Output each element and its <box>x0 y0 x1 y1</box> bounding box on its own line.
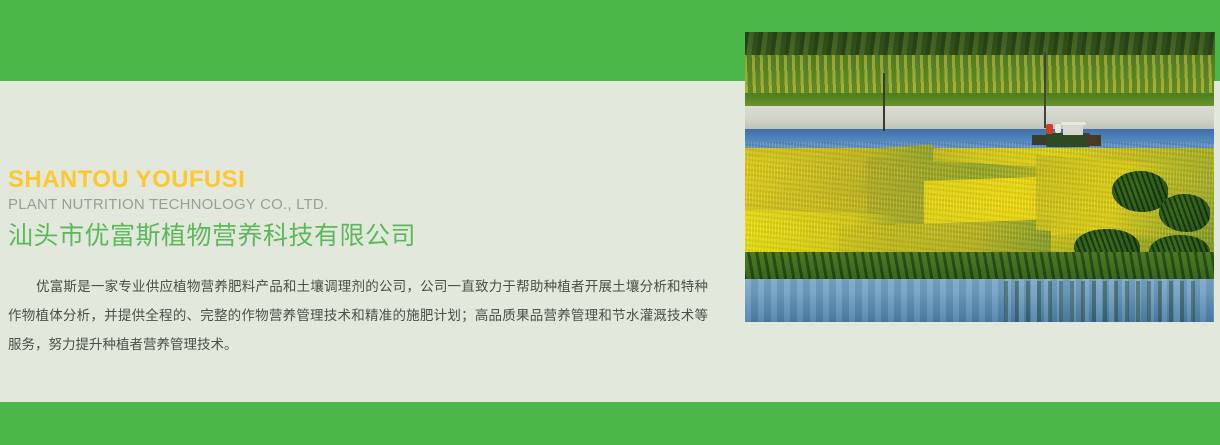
company-profile-page: SHANTOU YOUFUSI PLANT NUTRITION TECHNOLO… <box>0 0 1220 445</box>
photo-farmer <box>1046 124 1053 134</box>
hero-photo-canvas <box>745 32 1215 322</box>
photo-right-margin <box>1214 81 1220 402</box>
company-intro-paragraph: 优富斯是一家专业供应植物营养肥料产品和土壤调理剂的公司，公司一直致力于帮助种植者… <box>8 272 708 359</box>
photo-road <box>745 106 1215 132</box>
photo-tractor-cab <box>1063 124 1083 134</box>
photo-tractor-canopy <box>1061 122 1086 126</box>
photo-mid-vegetation <box>745 55 1215 93</box>
photo-utility-pole <box>1044 52 1046 127</box>
photo-tractor-cart <box>1087 135 1101 146</box>
hero-photo <box>745 32 1215 322</box>
brand-name-chinese: 汕头市优富斯植物营养科技有限公司 <box>8 220 728 252</box>
left-content-column: SHANTOU YOUFUSI PLANT NUTRITION TECHNOLO… <box>0 0 740 445</box>
brand-tagline-english: PLANT NUTRITION TECHNOLOGY CO., LTD. <box>8 194 728 216</box>
photo-water-reflection <box>1004 281 1201 322</box>
photo-tractor-body <box>1046 133 1089 147</box>
photo-farmer <box>1055 124 1062 133</box>
brand-block: SHANTOU YOUFUSI PLANT NUTRITION TECHNOLO… <box>8 166 728 252</box>
photo-utility-pole <box>883 73 885 131</box>
brand-name-english: SHANTOU YOUFUSI <box>8 166 728 194</box>
photo-tractor <box>1032 120 1098 146</box>
